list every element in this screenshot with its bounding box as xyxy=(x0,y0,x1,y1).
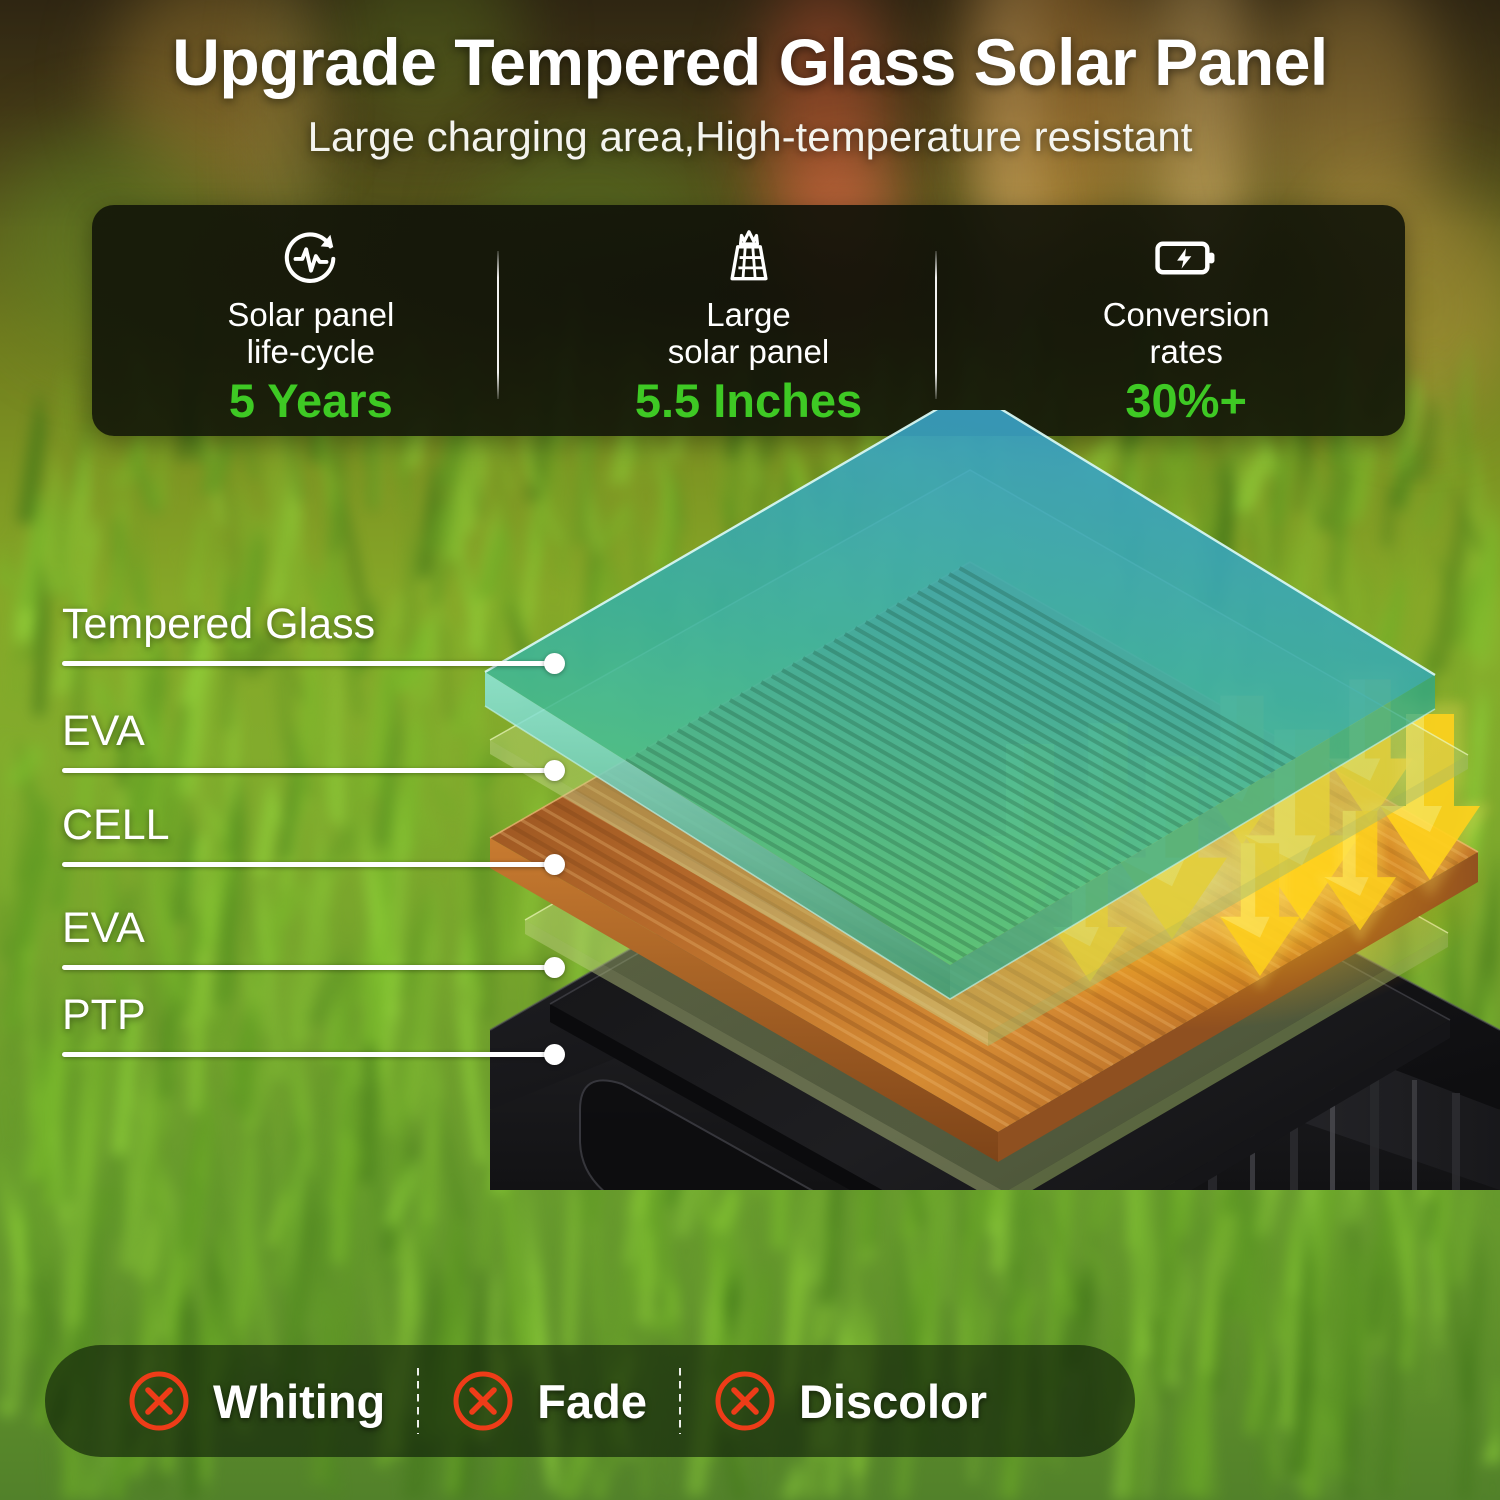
layer-label: Tempered Glass xyxy=(62,600,375,649)
badge-label: Discolor xyxy=(799,1374,987,1429)
infographic-root: Upgrade Tempered Glass Solar Panel Large… xyxy=(0,0,1500,1500)
page-title: Upgrade Tempered Glass Solar Panel xyxy=(0,24,1500,100)
badge-divider xyxy=(417,1368,419,1434)
layer-leader-line xyxy=(62,661,552,666)
circle-x-icon xyxy=(127,1369,191,1433)
anti-degradation-strip: Whiting Fade Discolor xyxy=(45,1345,1135,1457)
circle-x-icon xyxy=(713,1369,777,1433)
layer-leader-line xyxy=(62,862,552,867)
layer-label: EVA xyxy=(62,904,145,953)
badge-item-fade: Fade xyxy=(437,1369,661,1433)
layer-leader-line xyxy=(62,1052,552,1057)
feature-panel: Solar panel life-cycle 5 Years Large sol… xyxy=(92,205,1405,436)
badge-item-discolor: Discolor xyxy=(699,1369,1001,1433)
layer-leader-dot xyxy=(544,854,565,875)
feature-line-2: life-cycle xyxy=(247,334,375,371)
layer-leader-dot xyxy=(544,760,565,781)
layer-leader-dot xyxy=(544,653,565,674)
layer-leader-line xyxy=(62,965,552,970)
badge-label: Whiting xyxy=(213,1374,385,1429)
layer-label: CELL xyxy=(62,801,170,850)
layer-label: PTP xyxy=(62,991,146,1040)
layer-leader-line xyxy=(62,768,552,773)
feature-line-1: Large xyxy=(706,297,790,334)
lifecycle-pulse-icon xyxy=(280,227,342,289)
exploded-panel-illustration xyxy=(430,410,1500,1190)
layer-leader-dot xyxy=(544,1044,565,1065)
battery-charge-icon xyxy=(1154,227,1218,289)
badge-label: Fade xyxy=(537,1374,647,1429)
feature-line-2: solar panel xyxy=(668,334,829,371)
feature-line-1: Solar panel xyxy=(227,297,394,334)
feature-item-panel-size: Large solar panel 5.5 Inches xyxy=(530,205,968,436)
badge-divider xyxy=(679,1368,681,1434)
badge-item-whiting: Whiting xyxy=(113,1369,399,1433)
feature-line-1: Conversion xyxy=(1103,297,1270,334)
feature-item-life-cycle: Solar panel life-cycle 5 Years xyxy=(92,205,530,436)
layer-label: EVA xyxy=(62,707,145,756)
feature-value: 5 Years xyxy=(229,375,393,427)
page-subtitle: Large charging area,High-temperature res… xyxy=(0,113,1500,161)
feature-line-2: rates xyxy=(1149,334,1222,371)
feature-item-conversion: Conversion rates 30%+ xyxy=(967,205,1405,436)
solar-panel-icon xyxy=(719,227,779,289)
layer-leader-dot xyxy=(544,957,565,978)
circle-x-icon xyxy=(451,1369,515,1433)
